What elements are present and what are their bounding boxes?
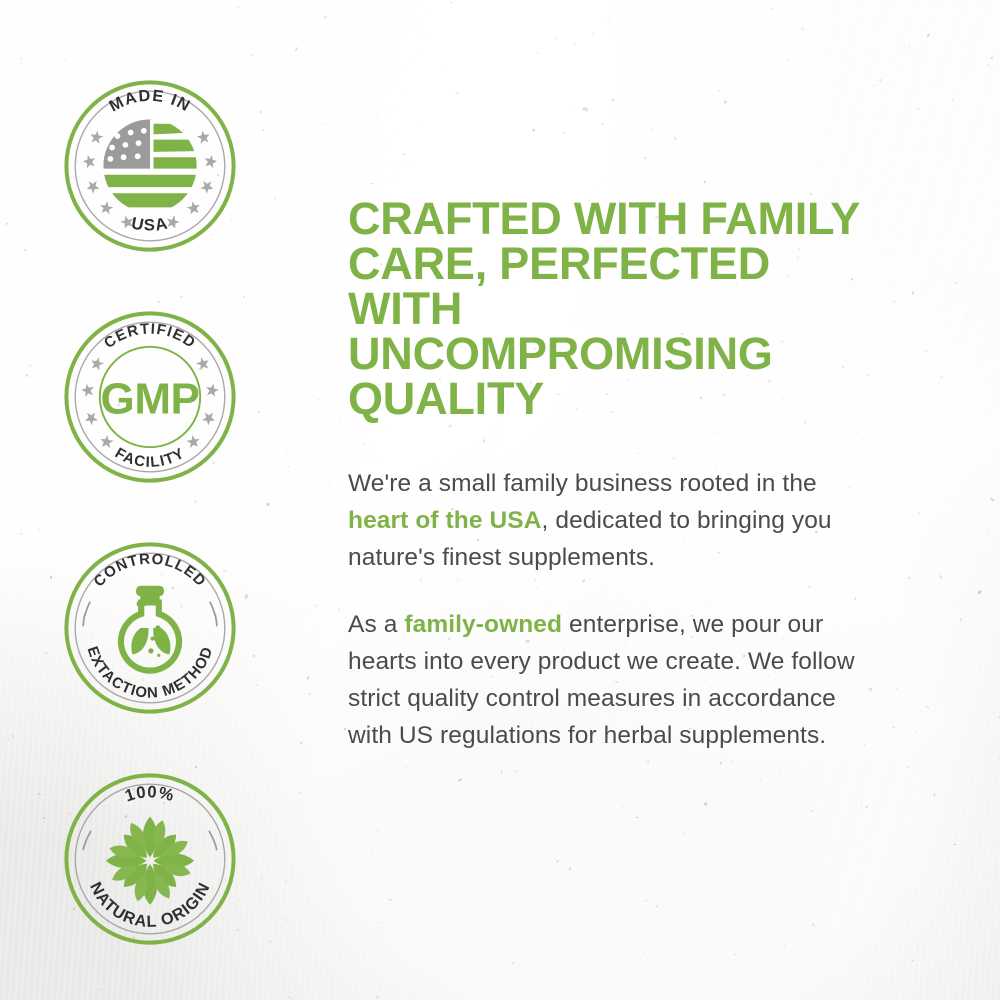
leaf-rosette-graphic xyxy=(106,817,194,905)
badge-natural-origin: 100% NATURAL ORIGIN xyxy=(62,771,238,947)
badge-made-in-usa: MADE IN USA xyxy=(62,78,238,254)
svg-text:100%: 100% xyxy=(123,782,177,805)
paragraph-2-highlight: family-owned xyxy=(404,611,562,638)
usa-flag-circle-icon: MADE IN USA xyxy=(62,78,238,254)
page-layout: MADE IN USA xyxy=(0,0,1000,1000)
paragraph-1-highlight: heart of the USA xyxy=(348,507,542,534)
badge-controlled-extraction-method: CONTROLLED EXTACTION METHOD xyxy=(62,540,238,716)
badge-bottom-label: USA xyxy=(130,213,171,234)
badge-gmp-certified-facility: GMP CERTIFIED FACILITY xyxy=(62,309,238,485)
usa-flag-graphic xyxy=(101,119,201,207)
paragraph-2-before: As a xyxy=(348,611,404,638)
gmp-monogram-icon: GMP CERTIFIED FACILITY xyxy=(62,309,238,485)
flask-leaf-icon: CONTROLLED EXTACTION METHOD xyxy=(62,540,238,716)
body-paragraph: As a family-owned enterprise, we pour ou… xyxy=(348,606,858,754)
gmp-center-label: GMP xyxy=(101,375,200,424)
svg-text:USA: USA xyxy=(130,213,171,234)
intro-paragraph: We're a small family business rooted in … xyxy=(348,465,858,576)
badge-top-label: MADE IN xyxy=(106,87,194,116)
trust-badge-column: MADE IN USA xyxy=(0,0,300,1000)
leaf-rosette-icon: 100% NATURAL ORIGIN xyxy=(62,771,238,947)
badge-top-label: 100% xyxy=(123,782,177,805)
paragraph-1-before: We're a small family business rooted in … xyxy=(348,470,817,497)
svg-text:MADE IN: MADE IN xyxy=(106,87,194,116)
flask-graphic xyxy=(121,586,179,671)
page-title: Crafted with family care, perfected with… xyxy=(348,196,888,421)
content-column: Crafted with family care, perfected with… xyxy=(300,0,1000,1000)
